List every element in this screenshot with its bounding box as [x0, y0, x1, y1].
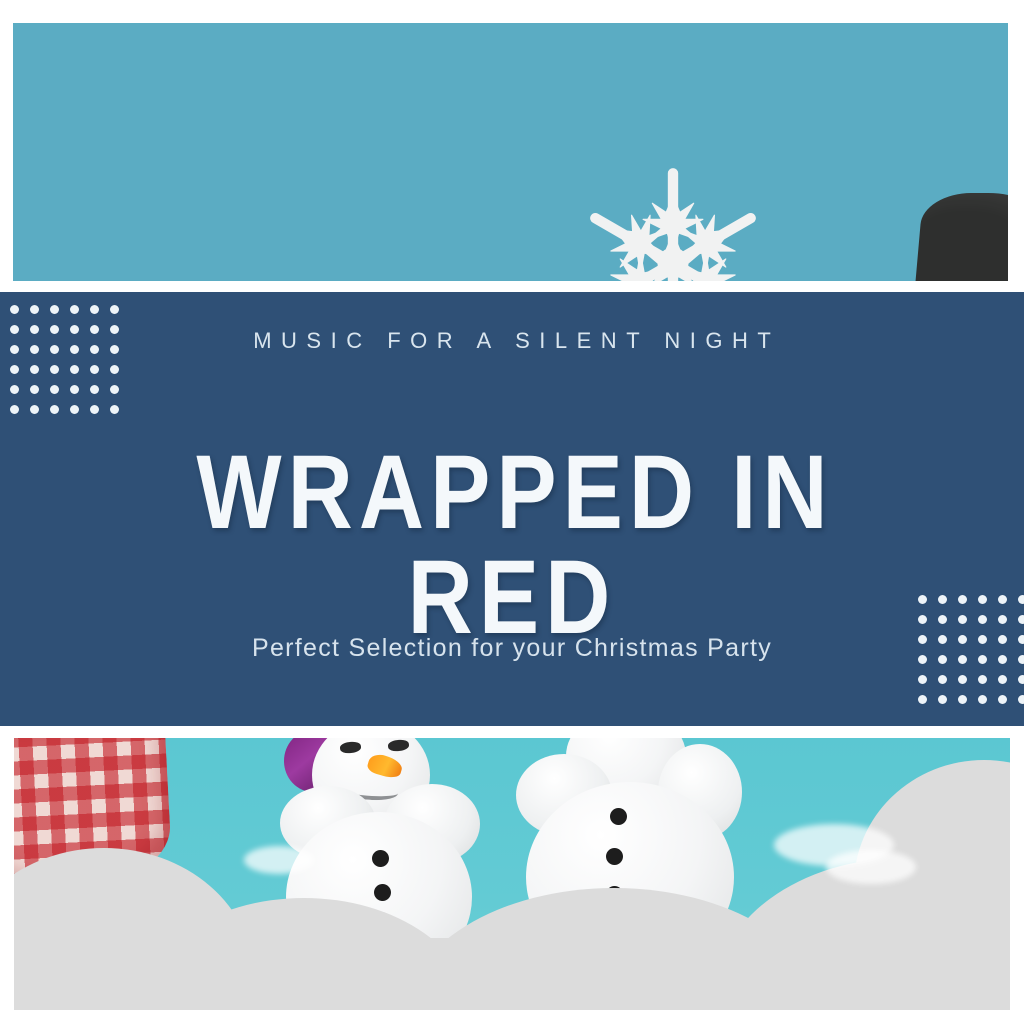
- dot: [998, 635, 1007, 644]
- dot: [110, 365, 119, 374]
- dot: [958, 635, 967, 644]
- dot: [50, 385, 59, 394]
- dot: [978, 595, 987, 604]
- dot: [918, 675, 927, 684]
- dot: [938, 695, 947, 704]
- dot: [90, 385, 99, 394]
- dot: [958, 595, 967, 604]
- dot: [998, 695, 1007, 704]
- top-image-panel: [13, 23, 1008, 281]
- dot: [10, 305, 19, 314]
- dot: [918, 655, 927, 664]
- dot: [50, 365, 59, 374]
- title-band: MUSIC FOR A SILENT NIGHT WRAPPED IN RED …: [0, 292, 1024, 726]
- dot-grid-left: [10, 305, 130, 425]
- kicker-text: MUSIC FOR A SILENT NIGHT: [0, 328, 1024, 354]
- dot: [918, 635, 927, 644]
- dot: [978, 675, 987, 684]
- dot: [30, 405, 39, 414]
- dot: [50, 305, 59, 314]
- page-title: WRAPPED IN RED: [72, 440, 953, 650]
- snowman-button: [372, 850, 389, 867]
- dot: [1018, 615, 1024, 624]
- dot: [998, 675, 1007, 684]
- dot: [110, 305, 119, 314]
- dot: [978, 695, 987, 704]
- dot: [110, 405, 119, 414]
- dot: [70, 365, 79, 374]
- dot: [938, 655, 947, 664]
- dot: [50, 405, 59, 414]
- dot: [978, 655, 987, 664]
- top-hat-icon: [913, 193, 1008, 281]
- dot: [938, 675, 947, 684]
- dot: [938, 615, 947, 624]
- dot: [938, 635, 947, 644]
- snowman-button: [606, 848, 623, 865]
- dot: [958, 695, 967, 704]
- dot: [90, 405, 99, 414]
- snow-wisp: [244, 846, 314, 874]
- dot: [10, 385, 19, 394]
- dot: [1018, 695, 1024, 704]
- dot: [110, 385, 119, 394]
- dot: [978, 615, 987, 624]
- dot: [918, 615, 927, 624]
- dot: [70, 305, 79, 314]
- dot: [30, 305, 39, 314]
- bottom-image-panel: [14, 738, 1010, 1010]
- dot: [1018, 595, 1024, 604]
- dot: [30, 365, 39, 374]
- dot: [998, 655, 1007, 664]
- snowman-button: [610, 808, 627, 825]
- dot: [918, 595, 927, 604]
- dot: [918, 695, 927, 704]
- dot: [938, 595, 947, 604]
- album-cover: MUSIC FOR A SILENT NIGHT WRAPPED IN RED …: [0, 0, 1024, 1024]
- subtitle-text: Perfect Selection for your Christmas Par…: [0, 634, 1024, 663]
- dot: [10, 405, 19, 414]
- snowman-button: [374, 884, 391, 901]
- dot: [958, 615, 967, 624]
- dot: [958, 675, 967, 684]
- dot: [10, 365, 19, 374]
- snowflake-icon: [558, 148, 788, 281]
- dot: [1018, 655, 1024, 664]
- dot: [90, 305, 99, 314]
- dot: [30, 385, 39, 394]
- snow-ground: [14, 938, 1010, 1010]
- dot: [1018, 635, 1024, 644]
- snow-wisp: [826, 850, 916, 884]
- dot: [90, 365, 99, 374]
- dot: [998, 615, 1007, 624]
- dot: [958, 655, 967, 664]
- dot: [978, 635, 987, 644]
- dot: [998, 595, 1007, 604]
- dot: [70, 385, 79, 394]
- dot: [1018, 675, 1024, 684]
- dot-grid-right: [918, 595, 1024, 715]
- dot: [70, 405, 79, 414]
